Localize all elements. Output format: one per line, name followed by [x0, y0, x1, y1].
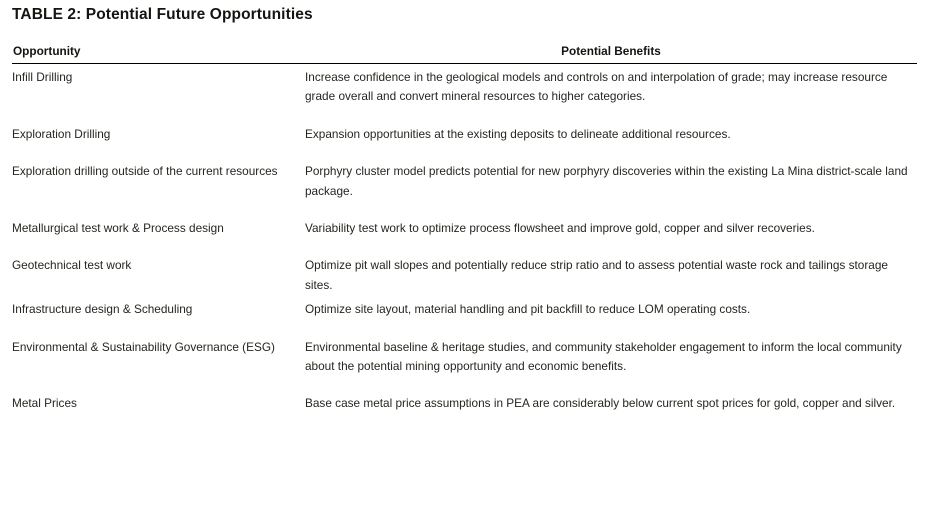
- row-spacer: [12, 376, 917, 389]
- table-row: Infrastructure design & Scheduling Optim…: [12, 295, 917, 319]
- cell-opportunity: Infrastructure design & Scheduling: [12, 295, 305, 319]
- table-row: Exploration drilling outside of the curr…: [12, 157, 917, 201]
- table-row: Metallurgical test work & Process design…: [12, 214, 917, 238]
- row-spacer: [12, 320, 917, 333]
- cell-opportunity: Metal Prices: [12, 389, 305, 413]
- cell-benefit: Environmental baseline & heritage studie…: [305, 333, 917, 377]
- table-header: Opportunity Potential Benefits: [12, 44, 917, 64]
- row-spacer: [12, 144, 917, 157]
- cell-opportunity: Environmental & Sustainability Governanc…: [12, 333, 305, 377]
- row-spacer: [12, 107, 917, 120]
- cell-benefit: Expansion opportunities at the existing …: [305, 120, 917, 144]
- cell-opportunity: Geotechnical test work: [12, 251, 305, 295]
- cell-benefit: Optimize pit wall slopes and potentially…: [305, 251, 917, 295]
- table-row: Exploration Drilling Expansion opportuni…: [12, 120, 917, 144]
- table-body: Infill Drilling Increase confidence in t…: [12, 64, 917, 414]
- document-page: TABLE 2: Potential Future Opportunities …: [0, 0, 932, 527]
- cell-benefit: Porphyry cluster model predicts potentia…: [305, 157, 917, 201]
- column-header-potential-benefits: Potential Benefits: [305, 44, 917, 64]
- table-row: Metal Prices Base case metal price assum…: [12, 389, 917, 413]
- opportunities-table: Opportunity Potential Benefits Infill Dr…: [12, 44, 917, 414]
- table-row: Environmental & Sustainability Governanc…: [12, 333, 917, 377]
- table-row: Infill Drilling Increase confidence in t…: [12, 64, 917, 107]
- row-spacer: [12, 201, 917, 214]
- cell-benefit: Base case metal price assumptions in PEA…: [305, 389, 917, 413]
- row-spacer: [12, 238, 917, 251]
- cell-opportunity: Exploration drilling outside of the curr…: [12, 157, 305, 201]
- table-container: Opportunity Potential Benefits Infill Dr…: [12, 44, 917, 414]
- cell-opportunity: Metallurgical test work & Process design: [12, 214, 305, 238]
- cell-benefit: Optimize site layout, material handling …: [305, 295, 917, 319]
- cell-benefit: Variability test work to optimize proces…: [305, 214, 917, 238]
- column-header-opportunity: Opportunity: [12, 44, 305, 64]
- cell-opportunity: Exploration Drilling: [12, 120, 305, 144]
- cell-opportunity: Infill Drilling: [12, 64, 305, 107]
- cell-benefit: Increase confidence in the geological mo…: [305, 64, 917, 107]
- table-header-row: Opportunity Potential Benefits: [12, 44, 917, 64]
- table-row: Geotechnical test work Optimize pit wall…: [12, 251, 917, 295]
- page-title: TABLE 2: Potential Future Opportunities: [12, 6, 313, 24]
